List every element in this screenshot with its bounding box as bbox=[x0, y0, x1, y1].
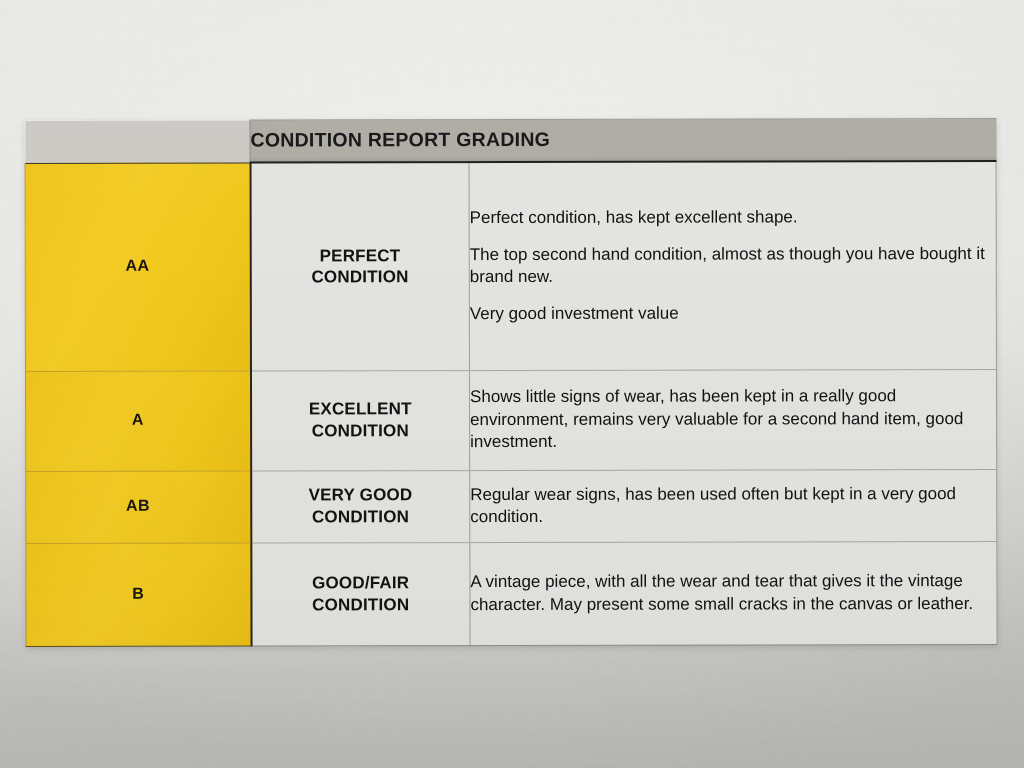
condition-line-1: GOOD/FAIR bbox=[312, 573, 409, 592]
condition-line-2: CONDITION bbox=[312, 507, 409, 526]
grade-badge-a: A bbox=[25, 371, 250, 471]
grade-badge-b: B bbox=[26, 543, 251, 646]
condition-line-1: PERFECT bbox=[320, 246, 401, 265]
description-b: A vintage piece, with all the wear and t… bbox=[470, 541, 997, 645]
condition-name-a: EXCELLENT CONDITION bbox=[250, 370, 469, 470]
description-paragraph: A vintage piece, with all the wear and t… bbox=[470, 570, 996, 616]
condition-report-grading-table: CONDITION REPORT GRADING AA PERFECT COND… bbox=[24, 118, 997, 647]
condition-name-aa: PERFECT CONDITION bbox=[250, 162, 469, 370]
description-paragraph: Very good investment value bbox=[470, 302, 996, 326]
table-row: AB VERY GOOD CONDITION Regular wear sign… bbox=[26, 469, 997, 543]
condition-name-b: GOOD/FAIR CONDITION bbox=[251, 542, 470, 645]
description-paragraph: Shows little signs of wear, has been kep… bbox=[470, 385, 996, 453]
condition-line-2: CONDITION bbox=[312, 421, 409, 440]
grade-badge-aa: AA bbox=[25, 163, 250, 371]
condition-line-2: CONDITION bbox=[312, 595, 409, 614]
table-row: AA PERFECT CONDITION Perfect condition, … bbox=[25, 161, 996, 371]
condition-line-2: CONDITION bbox=[311, 267, 408, 286]
condition-line-1: VERY GOOD bbox=[309, 485, 413, 504]
header-spacer-cell bbox=[25, 120, 250, 163]
description-a: Shows little signs of wear, has been kep… bbox=[469, 369, 996, 470]
condition-name-ab: VERY GOOD CONDITION bbox=[251, 470, 470, 542]
grade-badge-ab: AB bbox=[26, 471, 251, 543]
description-aa: Perfect condition, has kept excellent sh… bbox=[469, 161, 996, 370]
description-paragraph: The top second hand condition, almost as… bbox=[470, 243, 996, 289]
page-title: CONDITION REPORT GRADING bbox=[250, 118, 996, 162]
table-header-row: CONDITION REPORT GRADING bbox=[25, 118, 996, 163]
table-row: B GOOD/FAIR CONDITION A vintage piece, w… bbox=[26, 541, 997, 646]
description-paragraph: Perfect condition, has kept excellent sh… bbox=[470, 206, 996, 230]
description-ab: Regular wear signs, has been used often … bbox=[470, 469, 997, 542]
description-paragraph: Regular wear signs, has been used often … bbox=[470, 483, 996, 529]
condition-line-1: EXCELLENT bbox=[309, 399, 412, 418]
table-row: A EXCELLENT CONDITION Shows little signs… bbox=[25, 369, 996, 471]
